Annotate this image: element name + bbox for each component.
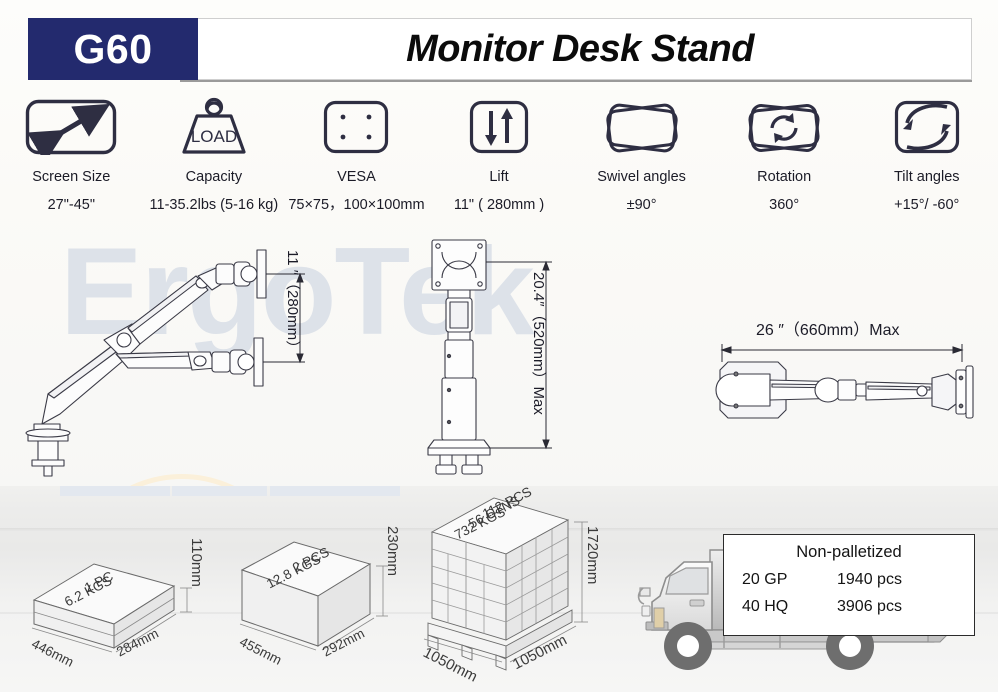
monitor-arm-side-view: 11 ″（280mm） bbox=[20, 228, 320, 478]
column-height-dimension-label: 20.4″（520mm）Max bbox=[528, 272, 549, 415]
spec-item-rotation: Rotation 360° bbox=[713, 96, 856, 222]
spec-item-lift: Lift 11" ( 280mm ) bbox=[428, 96, 571, 222]
page-title-text: Monitor Desk Stand bbox=[406, 28, 754, 71]
header: Monitor Desk Stand G60 bbox=[28, 18, 972, 80]
single-carton: 1 PC 6.2 KGS 446mm 284mm 110mm bbox=[26, 548, 216, 678]
rotation-circle-icon bbox=[734, 96, 834, 158]
pallet-height-label: 1720mm bbox=[584, 526, 601, 584]
spec-value: ±90° bbox=[627, 198, 657, 213]
tilt-arrows-icon bbox=[881, 96, 973, 158]
diagonal-arrow-icon bbox=[25, 96, 117, 158]
spec-value: 360° bbox=[769, 198, 799, 213]
spec-item-screen-size: Screen Size 27"-45" bbox=[0, 96, 143, 222]
container-loading-table: Non-palletized 20 GP 1940 pcs 40 HQ 3906… bbox=[723, 534, 975, 636]
model-badge: G60 bbox=[28, 18, 198, 80]
spec-row: Screen Size 27"-45" LOAD Capacity 11-35.… bbox=[0, 96, 998, 222]
spec-label: Capacity bbox=[186, 170, 242, 185]
container-qty: 1940 pcs bbox=[837, 571, 902, 589]
table-row: 40 HQ 3906 pcs bbox=[724, 598, 974, 616]
spec-value: +15°/ -60° bbox=[894, 198, 959, 213]
spec-value: 11" ( 280mm ) bbox=[454, 198, 544, 213]
spec-value: 11-35.2lbs (5-16 kg) bbox=[150, 198, 279, 213]
watermark-bars bbox=[60, 478, 420, 496]
container-loading-title: Non-palletized bbox=[796, 543, 901, 562]
model-badge-text: G60 bbox=[74, 26, 153, 73]
container-type: 40 HQ bbox=[742, 598, 837, 616]
monitor-arm-top-view: 26 ″（660mm）Max bbox=[700, 318, 990, 438]
spec-item-tilt-angles: Tilt angles +15°/ -60° bbox=[855, 96, 998, 222]
reach-dimension-label: 26 ″（660mm）Max bbox=[756, 316, 900, 340]
product-spec-sheet: ErgoTek Ergonomic Technology Monitor Des… bbox=[0, 0, 998, 692]
spec-value: 27"-45" bbox=[48, 198, 95, 213]
spec-item-capacity: LOAD Capacity 11-35.2lbs (5-16 kg) bbox=[143, 96, 286, 222]
page-title: Monitor Desk Stand bbox=[188, 18, 972, 80]
lift-dimension-label: 11 ″（280mm） bbox=[282, 250, 303, 355]
spec-item-swivel-angles: Swivel angles ±90° bbox=[570, 96, 713, 222]
spec-label: Lift bbox=[489, 170, 508, 185]
spec-label: VESA bbox=[337, 170, 376, 185]
load-weight-icon: LOAD bbox=[168, 96, 260, 158]
spec-label: Rotation bbox=[757, 170, 811, 185]
monitor-column-front-view: 20.4″（520mm）Max bbox=[404, 232, 604, 480]
table-row: 20 GP 1940 pcs bbox=[724, 571, 974, 589]
svg-text:LOAD: LOAD bbox=[191, 127, 237, 146]
container-type: 20 GP bbox=[742, 571, 837, 589]
carton-height-label: 110mm bbox=[188, 538, 205, 587]
spec-label: Tilt angles bbox=[894, 170, 960, 185]
spec-value: 75×75，100×100mm bbox=[288, 198, 424, 213]
master-carton: 2 PCS 12.8 KGS 455mm 292mm 230mm bbox=[232, 530, 417, 680]
spec-label: Screen Size bbox=[32, 170, 110, 185]
container-qty: 3906 pcs bbox=[837, 598, 902, 616]
spec-label: Swivel angles bbox=[597, 170, 686, 185]
vesa-plate-icon bbox=[310, 96, 402, 158]
spec-item-vesa: VESA 75×75，100×100mm bbox=[285, 96, 428, 222]
carton-height-label: 230mm bbox=[384, 526, 401, 576]
up-down-arrows-icon bbox=[453, 96, 545, 158]
swivel-rectangles-icon bbox=[592, 96, 692, 158]
pallet-stack: 112 PCS 56 CTNS 732 KGS 1050mm 1050mm 17… bbox=[418, 492, 628, 682]
